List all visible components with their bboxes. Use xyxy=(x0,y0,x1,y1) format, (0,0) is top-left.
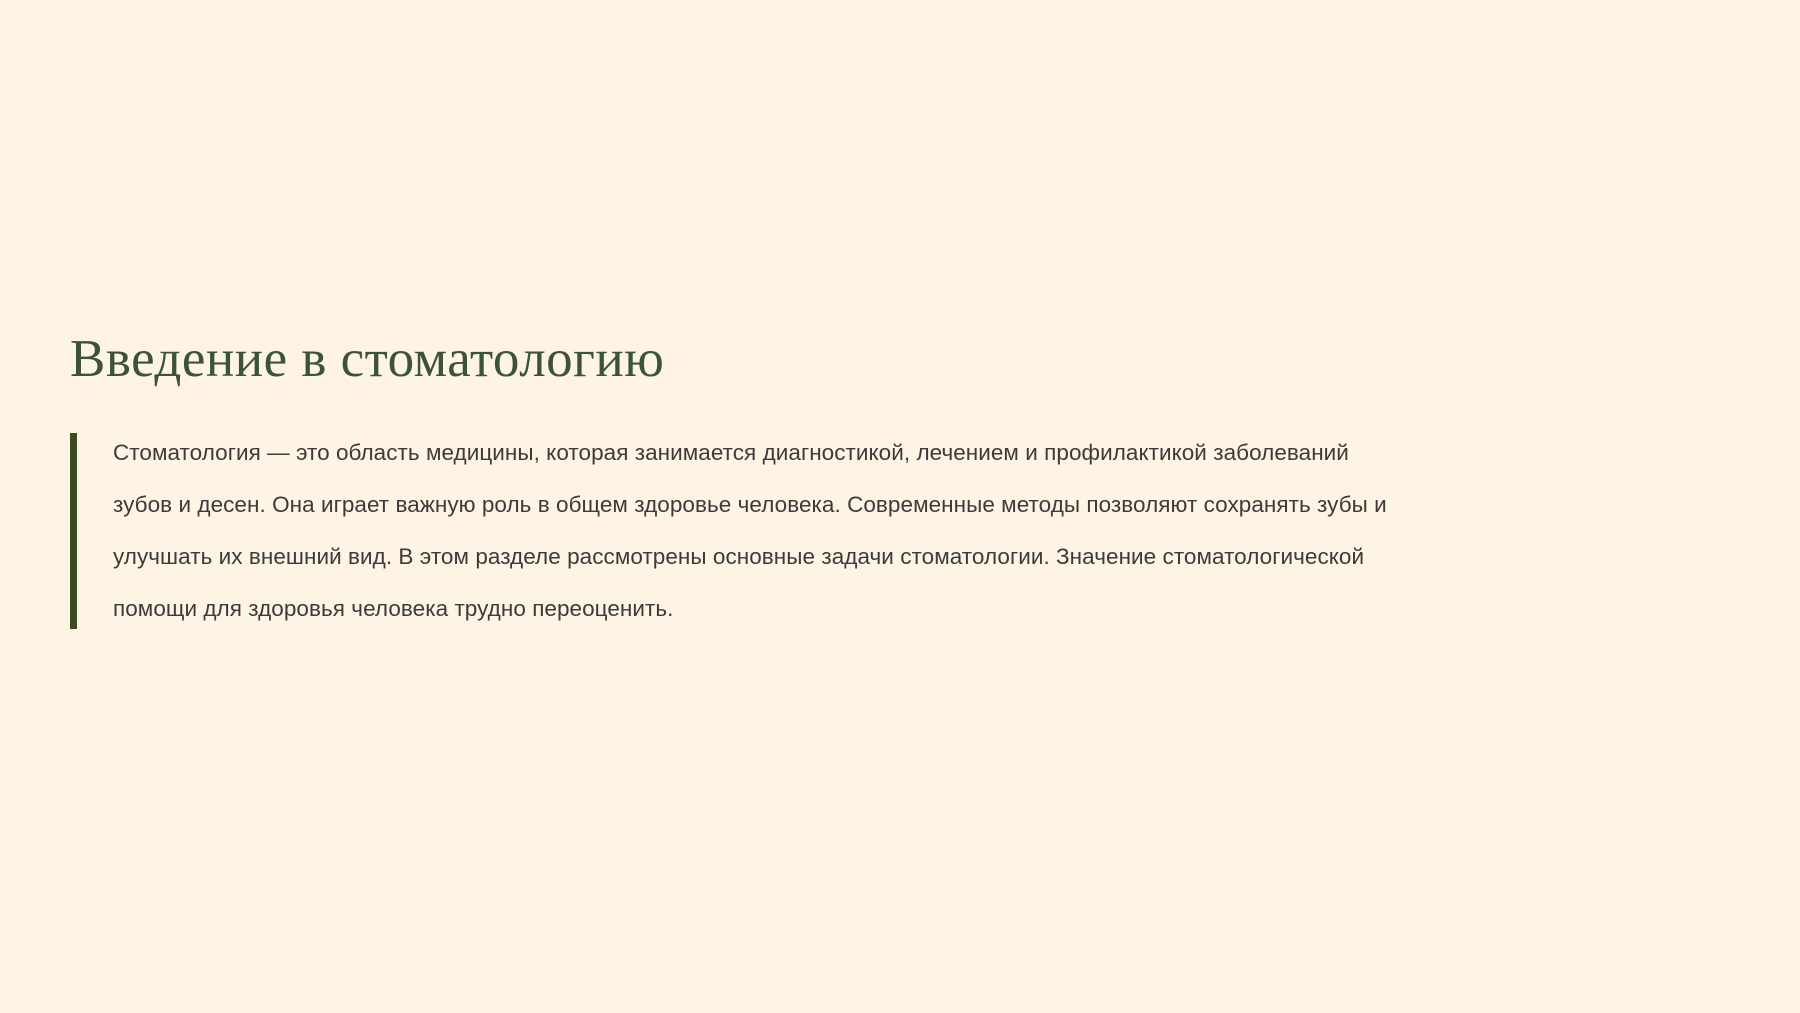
body-text-block: Стоматология — это область медицины, кот… xyxy=(70,427,1710,635)
body-paragraph: Стоматология — это область медицины, кот… xyxy=(113,427,1413,635)
accent-bar xyxy=(70,433,77,629)
content-block: Введение в стоматологию Стоматология — э… xyxy=(70,330,1710,635)
slide-canvas: Введение в стоматологию Стоматология — э… xyxy=(0,0,1800,1013)
page-title: Введение в стоматологию xyxy=(70,330,1710,389)
